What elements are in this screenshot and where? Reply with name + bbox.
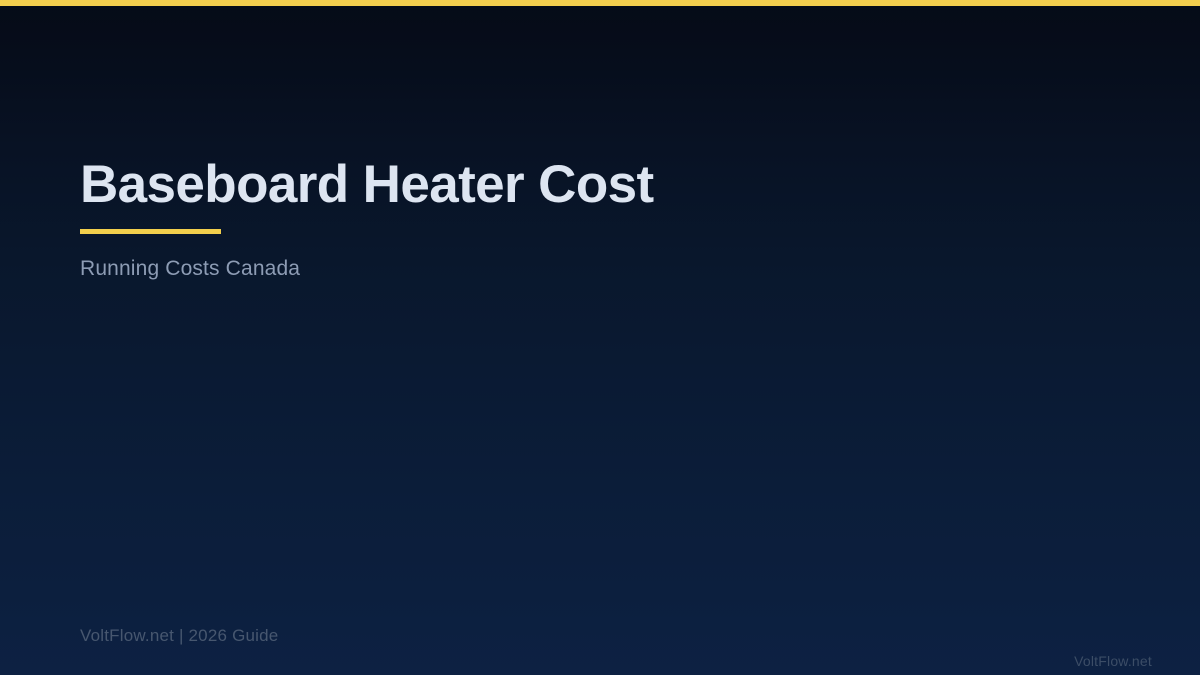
slide-title: Baseboard Heater Cost <box>80 155 980 215</box>
watermark-label: VoltFlow.net <box>1074 652 1152 670</box>
top-accent-bar <box>0 0 1200 6</box>
title-slide: Baseboard Heater Cost Running Costs Cana… <box>0 0 1200 675</box>
title-block: Baseboard Heater Cost Running Costs Cana… <box>80 155 980 282</box>
slide-subtitle: Running Costs Canada <box>80 256 980 282</box>
title-underline-accent <box>80 229 221 234</box>
footer-source-note: VoltFlow.net | 2026 Guide <box>80 625 278 647</box>
